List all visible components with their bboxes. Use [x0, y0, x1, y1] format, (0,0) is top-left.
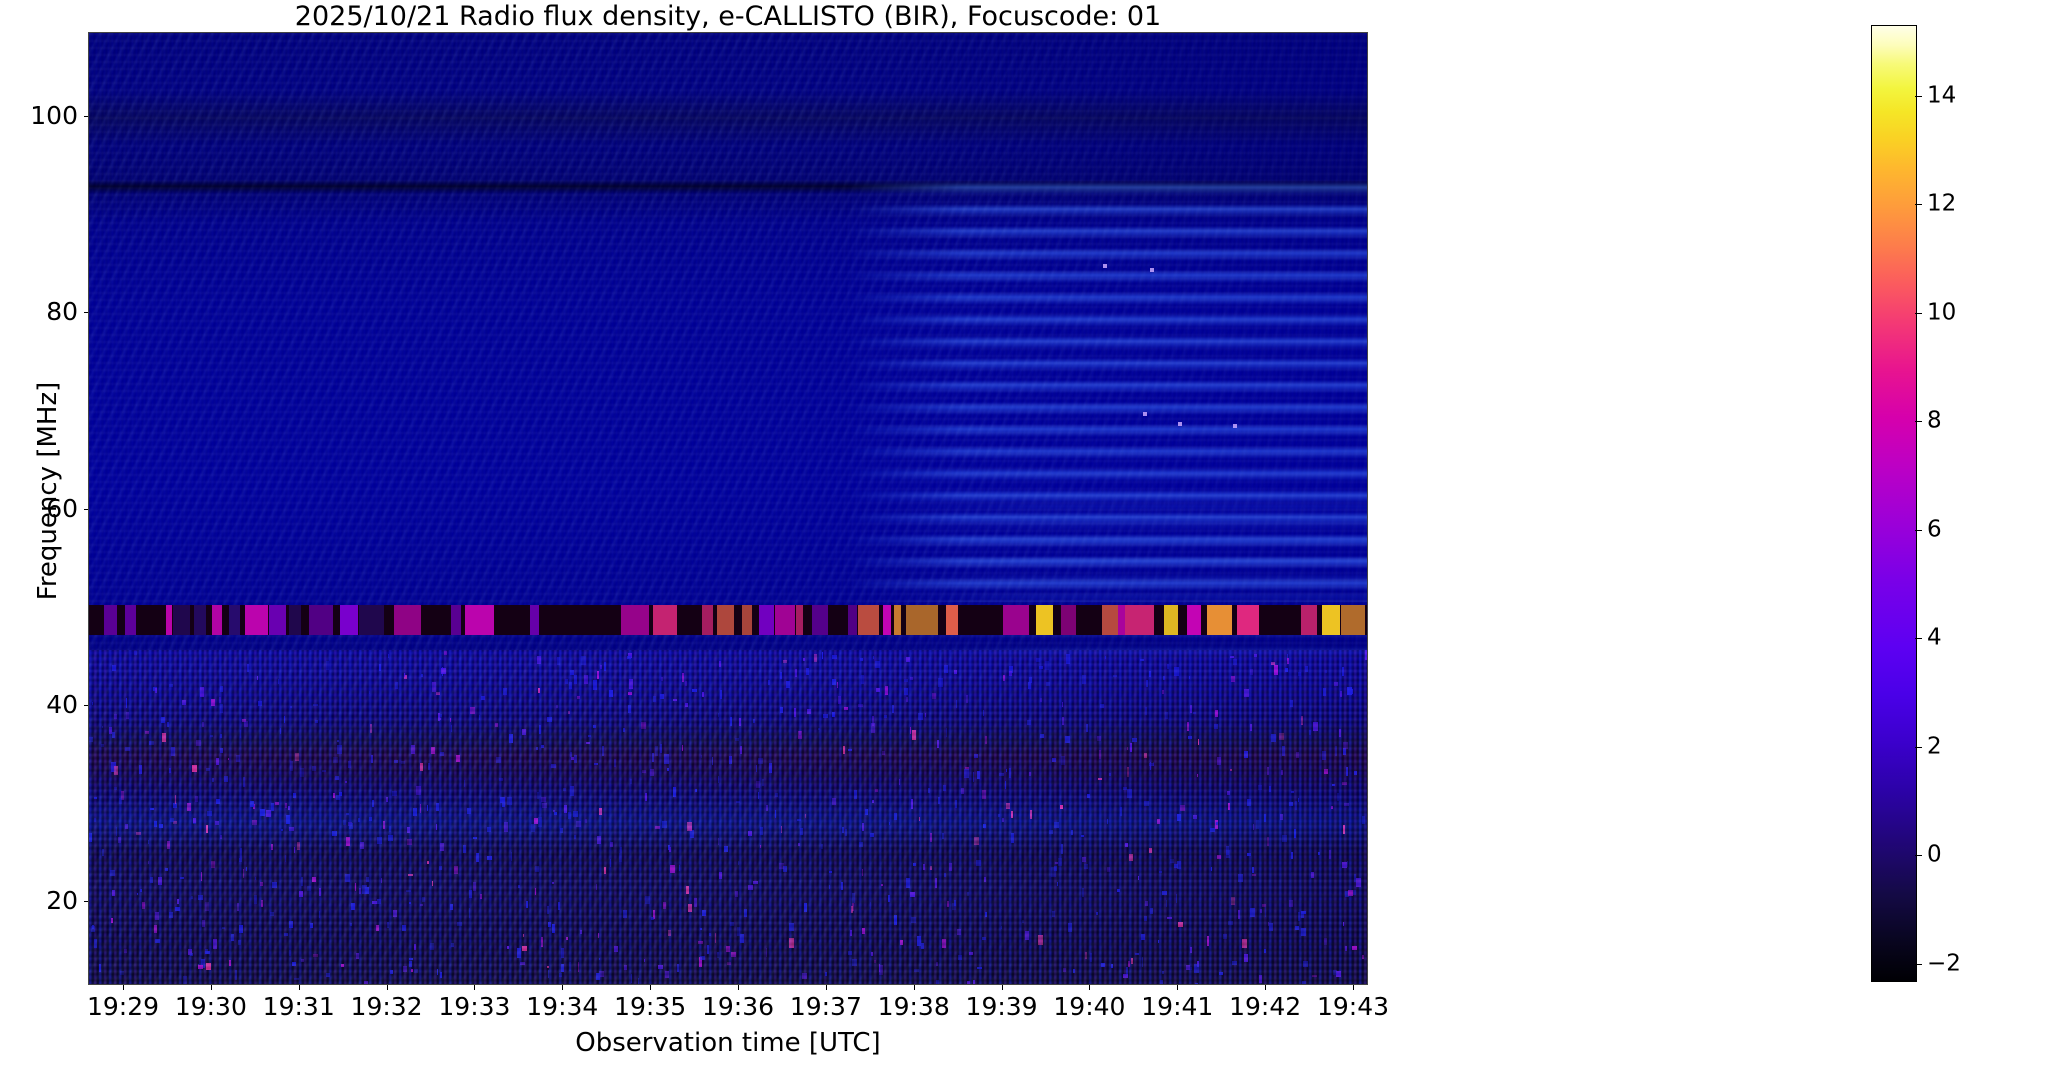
x-tick-mark — [387, 985, 388, 990]
x-tick-label: 19:40 — [1053, 993, 1125, 1021]
rfi-dash — [1322, 605, 1340, 635]
x-tick-label: 19:32 — [351, 993, 423, 1021]
y-axis-label: Frequency [MHz] — [33, 381, 63, 601]
rfi-dash — [1207, 605, 1232, 635]
x-tick-mark — [1089, 985, 1090, 990]
colorbar — [1871, 25, 1917, 982]
colorbar-tick-label: 4 — [1927, 627, 1942, 650]
rfi-dash — [702, 605, 713, 635]
colorbar-tick-label: 2 — [1927, 735, 1942, 758]
x-tick-label: 19:29 — [87, 993, 159, 1021]
rfi-dash — [883, 605, 891, 635]
rfi-dash — [1003, 605, 1028, 635]
colorbar-gradient — [1872, 26, 1916, 981]
x-tick-label: 19:33 — [438, 993, 510, 1021]
rfi-dash — [289, 605, 301, 635]
x-tick-mark — [650, 985, 651, 990]
colorbar-tick-label: 14 — [1927, 84, 1956, 107]
bright-pixel — [1233, 424, 1237, 428]
rfi-dash — [340, 605, 358, 635]
x-tick-mark — [299, 985, 300, 990]
x-tick-label: 19:42 — [1229, 993, 1301, 1021]
rfi-dash — [1061, 605, 1076, 635]
x-tick-mark — [211, 985, 212, 990]
colorbar-tick-mark — [1915, 964, 1922, 965]
rfi-dash — [1118, 605, 1125, 635]
rfi-dash — [394, 605, 421, 635]
rfi-dash — [465, 605, 494, 635]
x-tick-label: 19:37 — [790, 993, 862, 1021]
rfi-dash — [125, 605, 137, 635]
y-tick-label: 100 — [10, 103, 78, 128]
bright-pixel — [1143, 412, 1147, 416]
colorbar-tick-label: 10 — [1927, 301, 1956, 324]
rfi-dash — [530, 605, 539, 635]
y-tick-label: 80 — [10, 299, 78, 324]
rfi-dash — [173, 605, 190, 635]
rfi-dash — [906, 605, 937, 635]
colorbar-tick-mark — [1915, 638, 1922, 639]
y-tick-mark — [84, 705, 88, 706]
rfi-dash — [359, 605, 384, 635]
y-tick-mark — [84, 116, 88, 117]
y-tick-mark — [84, 312, 88, 313]
bright-pixel — [1150, 268, 1154, 272]
rfi-dash — [245, 605, 268, 635]
x-tick-mark — [914, 985, 915, 990]
y-tick-mark — [84, 509, 88, 510]
colorbar-tick-mark — [1915, 855, 1922, 856]
spectrogram-plot-area — [88, 32, 1368, 985]
x-tick-label: 19:34 — [526, 993, 598, 1021]
rfi-dash — [796, 605, 803, 635]
rfi-dash — [759, 605, 773, 635]
colorbar-tick-mark — [1915, 313, 1922, 314]
x-tick-mark — [123, 985, 124, 990]
x-tick-mark — [1265, 985, 1266, 990]
rfi-dash — [653, 605, 677, 635]
rfi-dash — [212, 605, 222, 635]
rfi-dash — [309, 605, 333, 635]
colorbar-tick-mark — [1915, 204, 1922, 205]
x-tick-label: 19:38 — [878, 993, 950, 1021]
x-tick-label: 19:41 — [1141, 993, 1213, 1021]
rfi-dash — [1237, 605, 1260, 635]
y-tick-mark — [84, 901, 88, 902]
bright-pixel — [1178, 422, 1182, 426]
rfi-dash — [269, 605, 287, 635]
colorbar-tick-label: −2 — [1927, 952, 1961, 975]
x-tick-label: 19:36 — [702, 993, 774, 1021]
x-tick-label: 19:31 — [263, 993, 335, 1021]
rfi-dash — [742, 605, 753, 635]
rfi-dash — [1164, 605, 1178, 635]
x-axis-label: Observation time [UTC] — [88, 1028, 1368, 1058]
rfi-dash — [1036, 605, 1053, 635]
x-tick-label: 19:30 — [175, 993, 247, 1021]
rfi-dash — [1102, 605, 1118, 635]
colorbar-tick-mark — [1915, 96, 1922, 97]
rfi-dash — [166, 605, 172, 635]
rfi-dash — [104, 605, 117, 635]
rfi-dash — [1301, 605, 1316, 635]
x-tick-label: 19:39 — [966, 993, 1038, 1021]
x-tick-mark — [474, 985, 475, 990]
rfi-dash — [229, 605, 240, 635]
x-tick-label: 19:35 — [614, 993, 686, 1021]
rfi-dash — [717, 605, 734, 635]
colorbar-tick-mark — [1915, 747, 1922, 748]
rfi-dash — [194, 605, 206, 635]
x-tick-label: 19:43 — [1317, 993, 1389, 1021]
colorbar-tick-label: 12 — [1927, 193, 1956, 216]
bright-pixel — [1103, 264, 1107, 268]
rfi-dash — [775, 605, 795, 635]
rfi-dash — [946, 605, 959, 635]
rfi-dash — [451, 605, 461, 635]
rfi-dash — [621, 605, 649, 635]
low-frequency-noise-overlay — [88, 650, 1368, 985]
rfi-band-27mhz — [88, 605, 1368, 635]
y-tick-label: 40 — [10, 692, 78, 717]
rfi-dash — [1341, 605, 1365, 635]
rfi-dash — [812, 605, 828, 635]
x-tick-mark — [1002, 985, 1003, 990]
colorbar-tick-mark — [1915, 530, 1922, 531]
x-tick-mark — [738, 985, 739, 990]
rfi-dash — [1125, 605, 1154, 635]
interference-fringes-mid-right — [898, 502, 1368, 662]
x-tick-mark — [826, 985, 827, 990]
x-tick-mark — [1177, 985, 1178, 990]
x-tick-mark — [562, 985, 563, 990]
y-tick-label: 60 — [10, 496, 78, 521]
rfi-dash — [894, 605, 901, 635]
x-tick-mark — [1353, 985, 1354, 990]
rfi-dash — [858, 605, 879, 635]
colorbar-tick-label: 8 — [1927, 410, 1942, 433]
colorbar-tick-mark — [1915, 421, 1922, 422]
rfi-dash — [848, 605, 857, 635]
page-title: 2025/10/21 Radio flux density, e-CALLIST… — [88, 2, 1368, 32]
colorbar-tick-label: 0 — [1927, 844, 1942, 867]
y-tick-label: 20 — [10, 888, 78, 913]
rfi-dash — [1187, 605, 1201, 635]
colorbar-tick-label: 6 — [1927, 518, 1942, 541]
